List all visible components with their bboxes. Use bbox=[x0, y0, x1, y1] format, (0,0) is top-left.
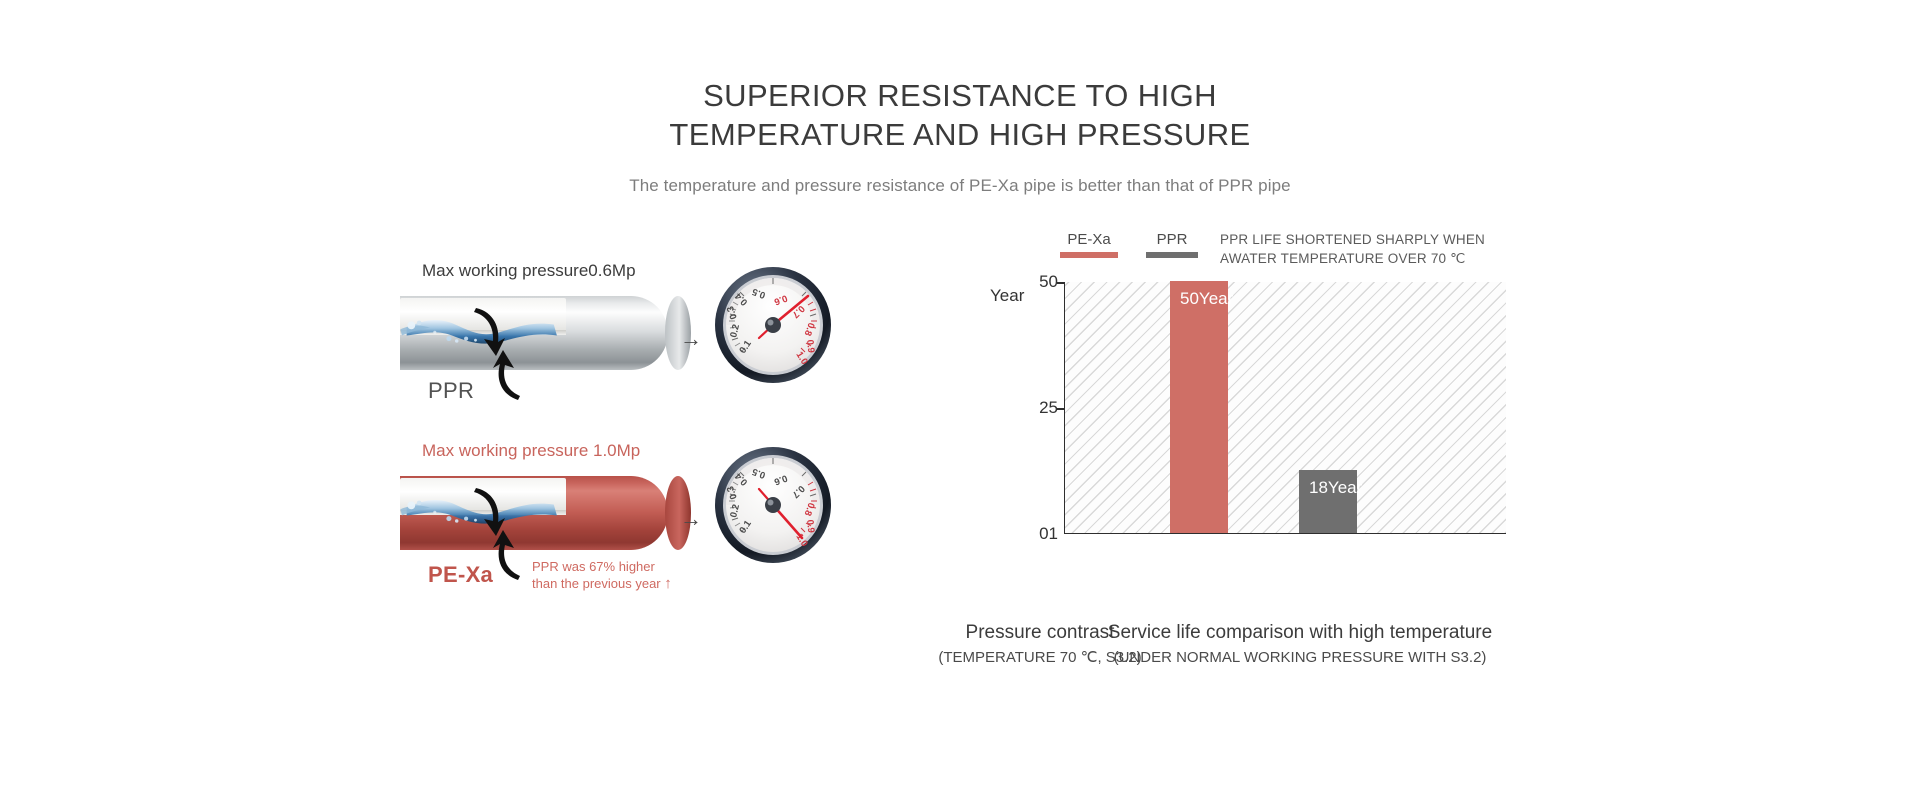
y-tick-50: 50 bbox=[1039, 272, 1058, 292]
panels-container: Max working pressure0.6Mp bbox=[0, 240, 1920, 720]
legend-swatch-pexa bbox=[1060, 252, 1118, 258]
pexa-pipe-graphic: → bbox=[380, 470, 690, 556]
bar-label-pexa: 50Year bbox=[1180, 289, 1233, 309]
ppr-flow-direction-icon: → bbox=[680, 328, 702, 350]
page-subtitle: The temperature and pressure resistance … bbox=[0, 154, 1920, 196]
ppr-callout-arrow-up-icon bbox=[488, 344, 534, 402]
y-tick-01: 01 bbox=[1039, 524, 1058, 544]
bar-label-ppr: 18Year bbox=[1309, 478, 1362, 498]
bar-ppr[interactable]: 18Year bbox=[1299, 470, 1357, 533]
plot-area: 50Year 18Year bbox=[1064, 282, 1506, 534]
pexa-note-line-2: than the previous year bbox=[532, 576, 661, 591]
pexa-comparison-note: PPR was 67% higher than the previous yea… bbox=[532, 558, 672, 592]
service-life-chart-panel: PE-Xa PPR PPR LIFE SHORTENED SHARPLY WHE… bbox=[990, 240, 1610, 700]
pexa-callout-label: Max working pressure 1.0Mp bbox=[422, 440, 640, 462]
y-tickmark-50 bbox=[1057, 282, 1065, 284]
chart-plot-region: Year 50 25 01 50Year 18Year bbox=[990, 272, 1610, 544]
y-tickmark-25 bbox=[1057, 408, 1065, 410]
up-arrow-icon: ↑ bbox=[664, 575, 672, 592]
infographic-page: SUPERIOR RESISTANCE TO HIGH TEMPERATURE … bbox=[0, 0, 1920, 800]
svg-text:0.9: 0.9 bbox=[804, 339, 816, 353]
chart-annotation-note: PPR LIFE SHORTENED SHARPLY WHEN AWATER T… bbox=[1220, 230, 1485, 268]
legend-item-ppr[interactable]: PPR bbox=[1146, 230, 1198, 258]
svg-text:0.9: 0.9 bbox=[804, 519, 816, 533]
chart-legend: PE-Xa PPR bbox=[1060, 230, 1226, 258]
legend-label-ppr: PPR bbox=[1146, 230, 1198, 249]
chart-note-line-2: AWATER TEMPERATURE OVER 70 ℃ bbox=[1220, 249, 1485, 268]
chart-note-line-1: PPR LIFE SHORTENED SHARPLY WHEN bbox=[1220, 230, 1485, 249]
chart-caption-sub: (UNDER NORMAL WORKING PRESSURE WITH S3.2… bbox=[990, 646, 1610, 670]
pexa-pipe-row: Max working pressure 1.0Mp bbox=[380, 440, 940, 610]
ppr-pipe-row: Max working pressure0.6Mp bbox=[380, 260, 940, 430]
page-title-line-1: SUPERIOR RESISTANCE TO HIGH bbox=[0, 76, 1920, 115]
pexa-material-label: PE-Xa bbox=[428, 562, 493, 588]
y-axis-ticks: 50 25 01 bbox=[990, 272, 1064, 534]
pexa-note-line-1: PPR was 67% higher bbox=[532, 559, 655, 574]
y-tick-25: 25 bbox=[1039, 398, 1058, 418]
page-title-line-2: TEMPERATURE AND HIGH PRESSURE bbox=[0, 115, 1920, 154]
pressure-contrast-panel: Max working pressure0.6Mp bbox=[380, 240, 940, 700]
bar-pexa[interactable]: 50Year bbox=[1170, 281, 1228, 533]
pexa-callout-arrow-up-icon bbox=[488, 524, 534, 582]
ppr-material-label: PPR bbox=[428, 378, 474, 404]
legend-swatch-ppr bbox=[1146, 252, 1198, 258]
pexa-flow-direction-icon: → bbox=[680, 508, 702, 530]
pexa-pressure-gauge: 0.1 0.2 0.3 0.4 0.5 0.6 0.7 0.8 0.9 1.0 bbox=[710, 442, 836, 568]
ppr-pipe-graphic: → bbox=[380, 290, 690, 376]
ppr-callout-label: Max working pressure0.6Mp bbox=[422, 260, 636, 282]
page-title: SUPERIOR RESISTANCE TO HIGH TEMPERATURE … bbox=[0, 0, 1920, 154]
chart-caption-main: Service life comparison with high temper… bbox=[990, 620, 1610, 646]
ppr-pressure-gauge: 0.1 0.2 0.3 0.4 0.5 0.6 0.7 0.8 0.9 1.0 bbox=[710, 262, 836, 388]
legend-item-pexa[interactable]: PE-Xa bbox=[1060, 230, 1118, 258]
page-header: SUPERIOR RESISTANCE TO HIGH TEMPERATURE … bbox=[0, 0, 1920, 196]
service-life-caption: Service life comparison with high temper… bbox=[990, 620, 1610, 670]
legend-label-pexa: PE-Xa bbox=[1060, 230, 1118, 249]
